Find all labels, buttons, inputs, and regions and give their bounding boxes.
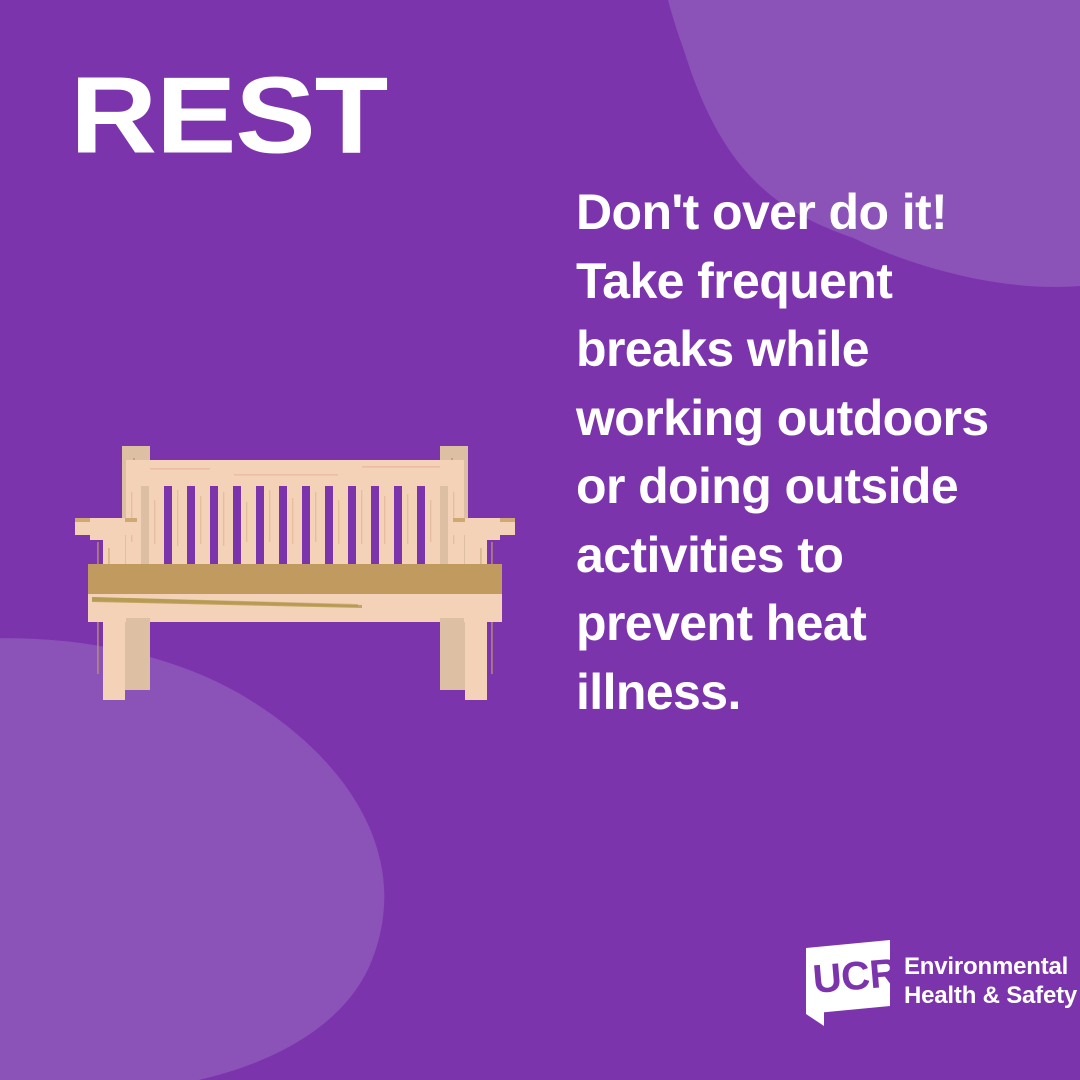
bench-top-rail xyxy=(126,460,464,486)
page-title: REST xyxy=(70,62,387,170)
bench-rear-leg-left xyxy=(126,618,150,690)
bench-seat xyxy=(88,564,502,594)
ucr-banner-tab xyxy=(806,1007,824,1026)
ucr-ehs-logo: UCR Environmental Health & Safety xyxy=(800,938,1048,1030)
ucr-logo-wordmark: Environmental Health & Safety xyxy=(904,952,1077,1011)
park-bench-illustration xyxy=(62,430,528,730)
ucr-logo-line-2: Health & Safety xyxy=(904,981,1077,1010)
ucr-logo-mark: UCR xyxy=(800,938,896,1030)
ucr-logo-line-1: Environmental xyxy=(904,952,1077,981)
bench-back-slats xyxy=(126,486,464,564)
bench-rear-leg-right xyxy=(440,618,464,690)
bench-seat-apron xyxy=(88,594,502,622)
body-copy: Don't over do it! Take frequent breaks w… xyxy=(576,178,1026,726)
poster-canvas: REST Don't over do it! Take frequent bre… xyxy=(0,0,1080,1080)
ucr-logo-letters: UCR xyxy=(811,951,896,1002)
